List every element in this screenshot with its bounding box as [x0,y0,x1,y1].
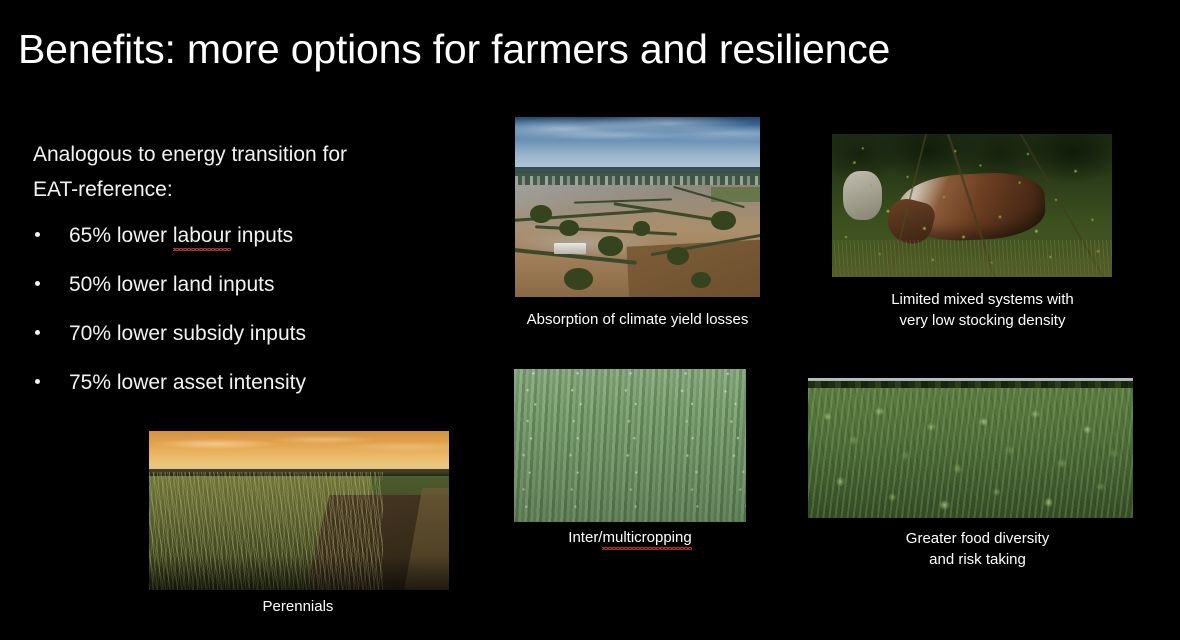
bullet-text-suffix: inputs [231,224,293,247]
farm-building [554,243,586,254]
tree [711,211,736,231]
bullet-text: 70% lower subsidy inputs [69,320,306,348]
caption-line: Greater food diversity [845,528,1110,549]
photo-scene [832,134,1112,277]
photo-scene [514,369,746,522]
image-perennial-grass-field [149,431,449,590]
bullet-marker-icon [35,379,40,384]
caption-cattle-mixed-system: Limited mixed systems with very low stoc… [845,289,1120,331]
image-flooded-farmland [515,117,760,297]
tree [559,220,579,236]
tree [633,221,650,235]
caption-bean-field: Greater food diversity and risk taking [845,528,1110,570]
lead-line-1: Analogous to energy transition for [33,137,463,172]
bullet-text-prefix: 65% lower [69,224,173,247]
image-intercropping [514,369,746,522]
image-cattle-mixed-system [832,134,1112,277]
bullet-marker-icon [35,281,40,286]
tree [564,268,593,290]
foreground-shadow [149,555,449,590]
caption-line: and risk taking [845,549,1110,570]
spellcheck-word: multicropping [602,529,691,546]
caption-intercropping: Inter/multicropping [520,527,740,548]
tree [691,272,711,288]
bullet-text: 50% lower land inputs [69,271,274,299]
spellcheck-word: labour [173,224,231,247]
foreground-grass [832,240,1112,277]
leaf-texture-layer [808,388,1133,518]
list-item: 50% lower land inputs [33,271,463,320]
image-bean-field [808,378,1133,518]
caption-line: very low stocking density [845,310,1120,331]
cloud-layer [515,117,760,171]
tree [598,236,623,256]
caption-line: Limited mixed systems with [845,289,1120,310]
shading-layer [514,369,746,522]
slide-canvas: Benefits: more options for farmers and r… [0,0,1180,640]
bullet-text: 75% lower asset intensity [69,369,306,397]
cloud-layer [149,431,449,474]
caption-flooded-farmland: Absorption of climate yield losses [485,309,790,330]
list-item: 65% lower labour inputs [33,222,463,271]
lead-line-2: EAT-reference: [33,172,463,207]
photo-scene [149,431,449,590]
tree [530,205,552,223]
list-item: 75% lower asset intensity [33,369,463,418]
bullet-marker-icon [35,232,40,237]
benefits-bullet-list: 65% lower labour inputs 50% lower land i… [33,222,463,418]
tree [667,247,689,265]
photo-scene [515,117,760,297]
bullet-marker-icon [35,330,40,335]
list-item: 70% lower subsidy inputs [33,320,463,369]
lead-paragraph: Analogous to energy transition for EAT-r… [33,137,463,207]
photo-scene [808,378,1133,518]
bullet-text: 65% lower labour inputs [69,222,293,250]
caption-perennials: Perennials [198,596,398,617]
caption-prefix: Inter/ [568,529,602,546]
page-title: Benefits: more options for farmers and r… [18,24,890,74]
